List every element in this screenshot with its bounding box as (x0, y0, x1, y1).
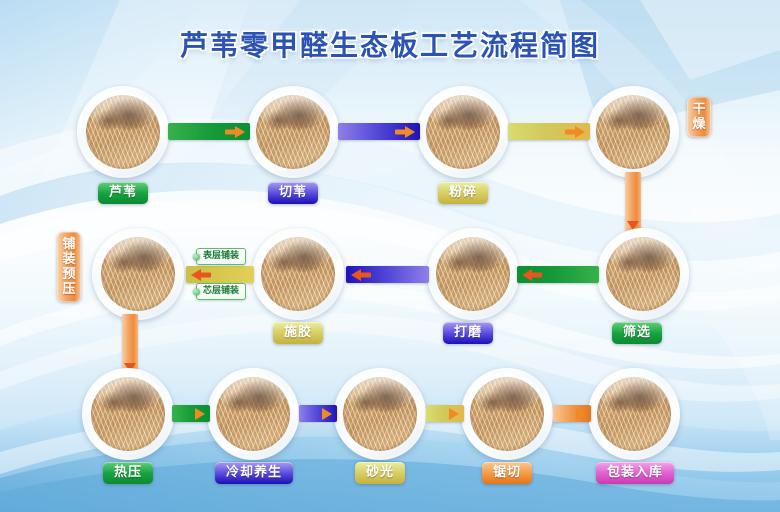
step-label-hotpress[interactable]: 热压 (103, 462, 153, 484)
tag-surface-layer[interactable]: 表层铺装 (196, 248, 246, 265)
step-label-crushing[interactable]: 粉碎 (438, 182, 488, 204)
reed-photo (86, 95, 160, 169)
step-label-drying[interactable]: 干 燥 (687, 97, 711, 137)
step-label-cutting[interactable]: 切苇 (268, 182, 318, 204)
arrow-crushing-to-drying (508, 123, 590, 140)
arrow-head-icon (195, 408, 205, 420)
arrow-head-icon (235, 126, 245, 138)
step-label-gluing[interactable]: 施胶 (273, 322, 323, 344)
page-title: 芦苇零甲醛生态板工艺流程简图 (0, 24, 780, 64)
arrow-head-icon (322, 408, 332, 420)
step-label-sanding[interactable]: 砂光 (355, 462, 405, 484)
prepress-char-3: 预 (57, 267, 81, 282)
step-label-sawing[interactable]: 锯切 (482, 462, 532, 484)
step-label-cooling[interactable]: 冷却养生 (215, 462, 293, 484)
drying-char-1: 干 (687, 102, 711, 117)
arrow-head-icon (405, 126, 415, 138)
tag-label: 芯层铺装 (203, 286, 239, 296)
reed-photo (597, 377, 671, 451)
process-node-screening[interactable] (597, 228, 689, 320)
arrow-screening-to-grinding (517, 266, 599, 283)
step-label-packaging[interactable]: 包装入库 (596, 462, 674, 484)
prepress-char-1: 铺 (57, 237, 81, 252)
tag-core-layer[interactable]: 芯层铺装 (196, 283, 246, 300)
process-node-prepress[interactable] (92, 228, 184, 320)
arrow-head-icon (449, 408, 459, 420)
drying-char-2: 燥 (687, 117, 711, 132)
arrow-sawing-to-packaging (553, 405, 591, 422)
process-node-sawing[interactable] (461, 368, 553, 460)
reed-photo (343, 377, 417, 451)
process-node-sanding[interactable] (334, 368, 426, 460)
step-label-reed[interactable]: 芦苇 (98, 182, 148, 204)
process-node-packaging[interactable] (588, 368, 680, 460)
process-node-crushing[interactable] (417, 86, 509, 178)
step-label-prepress[interactable]: 铺 装 预 压 (57, 232, 81, 302)
step-label-grinding[interactable]: 打磨 (443, 322, 493, 344)
arrow-hotpress-to-cooling (172, 405, 210, 422)
arrow-head-icon (576, 408, 586, 420)
reed-photo (596, 95, 670, 169)
reed-photo (470, 377, 544, 451)
arrow-head-icon (522, 269, 532, 281)
reed-photo (261, 237, 335, 311)
prepress-char-2: 装 (57, 252, 81, 267)
process-node-cutting[interactable] (247, 86, 339, 178)
arrow-sanding-to-sawing (426, 405, 464, 422)
reed-photo (256, 95, 330, 169)
process-node-grinding[interactable] (427, 228, 519, 320)
tag-label: 表层铺装 (203, 251, 239, 261)
bullet-dot-icon (193, 288, 200, 295)
process-node-hotpress[interactable] (82, 368, 174, 460)
process-node-gluing[interactable] (252, 228, 344, 320)
reed-photo (426, 95, 500, 169)
prepress-char-4: 压 (57, 282, 81, 297)
reed-photo (91, 377, 165, 451)
arrow-head-icon (191, 269, 201, 281)
step-label-screening[interactable]: 筛选 (612, 322, 662, 344)
reed-photo (101, 237, 175, 311)
arrow-head-icon (575, 126, 585, 138)
flowchart-poster: 芦苇零甲醛生态板工艺流程简图 芦苇 切苇 粉碎 干 燥 (0, 0, 780, 512)
arrow-cutting-to-crushing (338, 123, 420, 140)
process-node-cooling[interactable] (207, 368, 299, 460)
arrow-cooling-to-sanding (299, 405, 337, 422)
bullet-dot-icon (193, 253, 200, 260)
arrow-head-icon (351, 269, 361, 281)
reed-photo (436, 237, 510, 311)
reed-photo (606, 237, 680, 311)
process-node-reed[interactable] (77, 86, 169, 178)
arrow-gluing-to-prepress (186, 266, 254, 283)
arrow-grinding-to-gluing (346, 266, 429, 283)
reed-photo (216, 377, 290, 451)
arrow-reed-to-cutting (168, 123, 250, 140)
process-node-drying[interactable] (587, 86, 679, 178)
